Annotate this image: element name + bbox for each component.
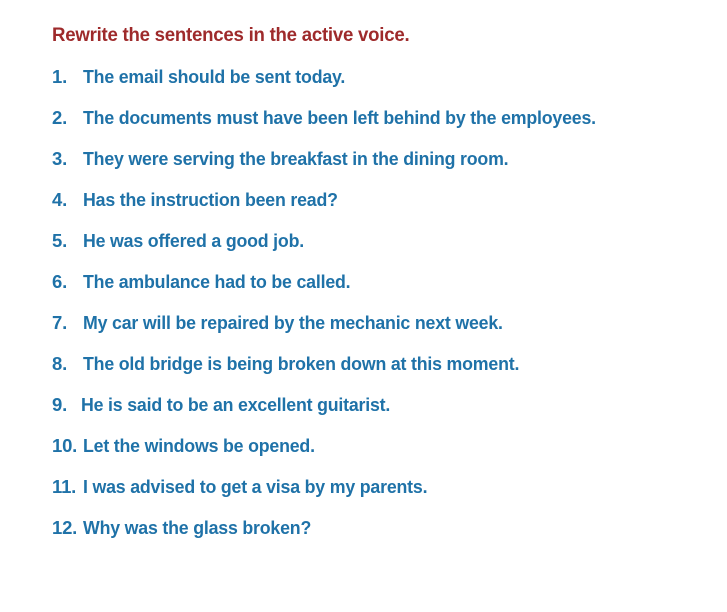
list-item: 2.The documents must have been left behi… (0, 105, 727, 146)
list-item-number: 9. (52, 392, 81, 418)
list-item: 10.Let the windows be opened. (0, 433, 727, 474)
list-item-number: 1. (52, 64, 83, 90)
list-item-text: They were serving the breakfast in the d… (83, 146, 508, 172)
exercise-list: 1.The email should be sent today. 2.The … (0, 64, 727, 556)
list-item: 4.Has the instruction been read? (0, 187, 727, 228)
list-item-number: 8. (52, 351, 83, 377)
list-item: 3.They were serving the breakfast in the… (0, 146, 727, 187)
list-item-number: 6. (52, 269, 83, 295)
list-item-number: 11. (52, 474, 83, 500)
list-item-number: 12. (52, 515, 83, 541)
list-item: 1.The email should be sent today. (0, 64, 727, 105)
list-item: 8.The old bridge is being broken down at… (0, 351, 727, 392)
worksheet-page: Rewrite the sentences in the active voic… (0, 0, 727, 612)
list-item-text: He was offered a good job. (83, 228, 304, 254)
list-item: 11.I was advised to get a visa by my par… (0, 474, 727, 515)
list-item-text: I was advised to get a visa by my parent… (83, 474, 427, 500)
page-title: Rewrite the sentences in the active voic… (52, 25, 409, 46)
list-item-text: Let the windows be opened. (83, 433, 315, 459)
list-item-text: He is said to be an excellent guitarist. (81, 392, 390, 418)
list-item-text: The email should be sent today. (83, 64, 345, 90)
list-item-number: 5. (52, 228, 83, 254)
list-item-text: The documents must have been left behind… (83, 105, 596, 131)
list-item: 7.My car will be repaired by the mechani… (0, 310, 727, 351)
list-item: 9.He is said to be an excellent guitaris… (0, 392, 727, 433)
list-item-number: 3. (52, 146, 83, 172)
list-item-number: 10. (52, 433, 83, 459)
list-item-text: My car will be repaired by the mechanic … (83, 310, 503, 336)
list-item-text: Has the instruction been read? (83, 187, 338, 213)
list-item-number: 2. (52, 105, 83, 131)
list-item-text: The old bridge is being broken down at t… (83, 351, 519, 377)
list-item-number: 7. (52, 310, 83, 336)
list-item-number: 4. (52, 187, 83, 213)
list-item: 12.Why was the glass broken? (0, 515, 727, 556)
list-item-text: Why was the glass broken? (83, 515, 311, 541)
list-item: 5.He was offered a good job. (0, 228, 727, 269)
list-item: 6.The ambulance had to be called. (0, 269, 727, 310)
list-item-text: The ambulance had to be called. (83, 269, 350, 295)
